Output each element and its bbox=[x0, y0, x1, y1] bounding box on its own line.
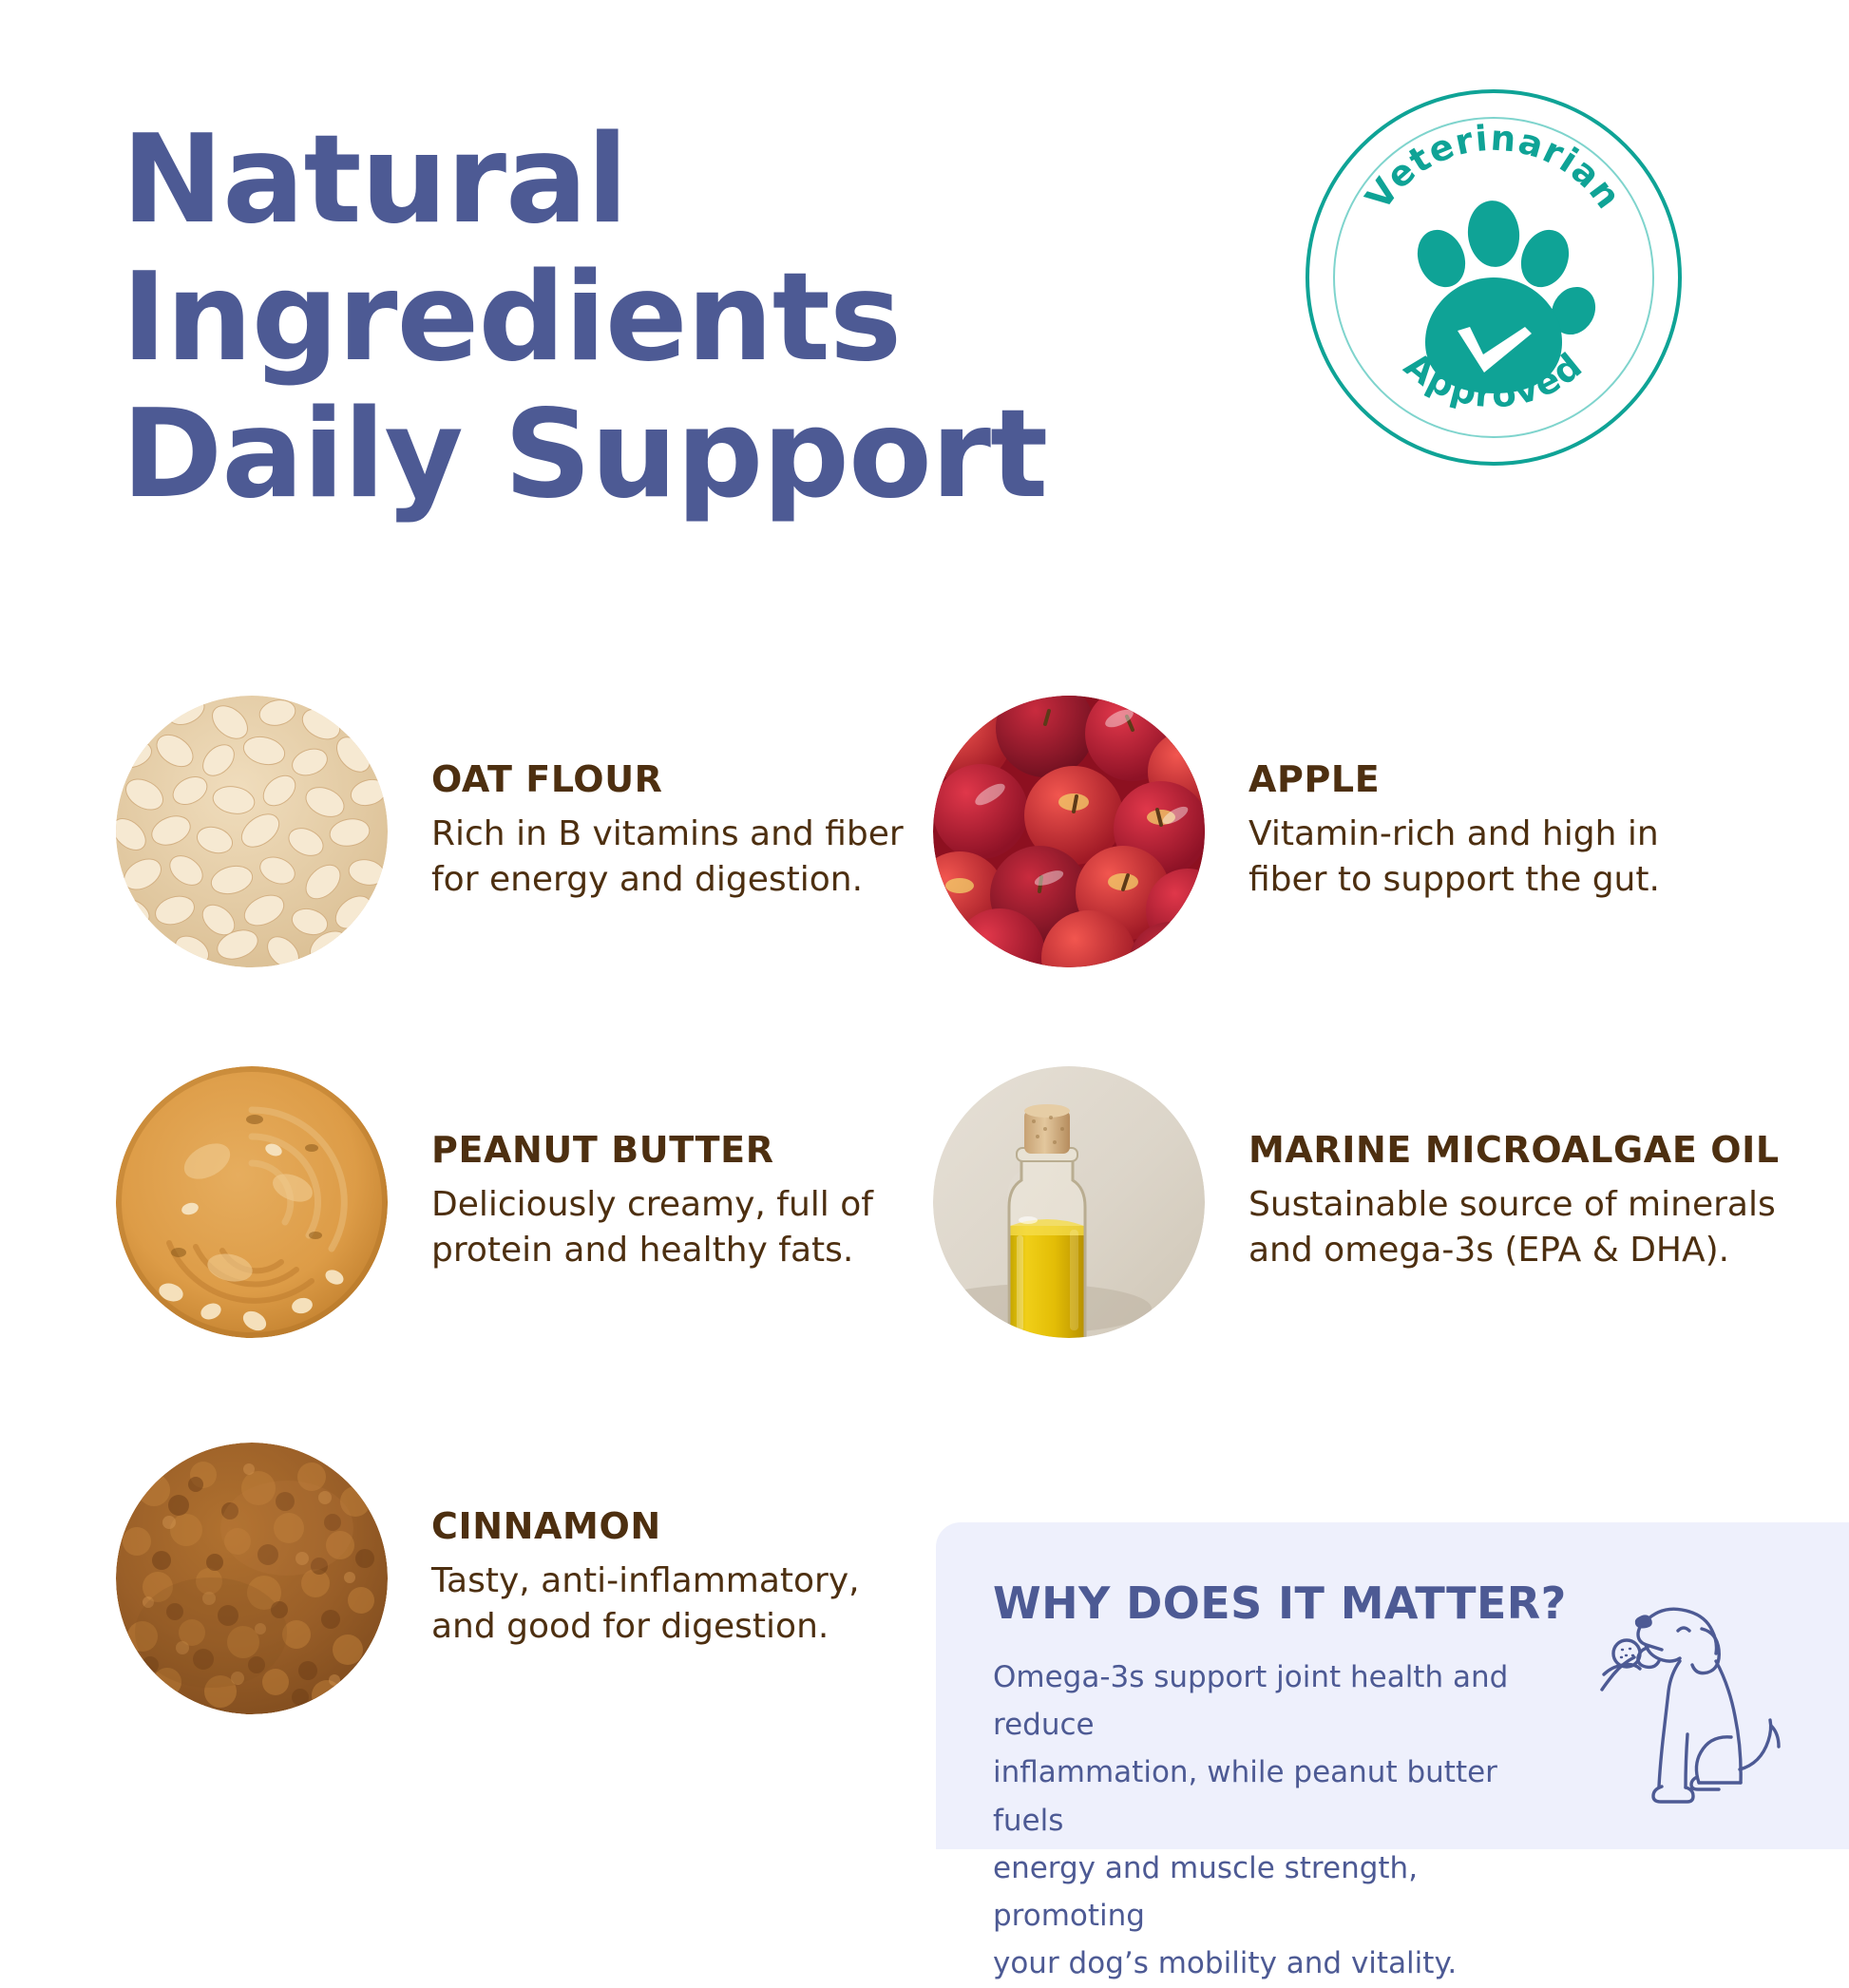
why-does-it-matter-panel: WHY DOES IT MATTER? Omega-3s support joi… bbox=[936, 1522, 1849, 1849]
ingredient-name: APPLE bbox=[1249, 760, 1660, 800]
ingredient-item-marine-microalgae-oil: MARINE MICROALGAE OIL Sustainable source… bbox=[933, 1066, 1780, 1338]
oil-bottle-photo bbox=[933, 1066, 1205, 1338]
page-title: Natural Ingredients Daily Support bbox=[122, 112, 1047, 525]
rolled-oats-photo bbox=[116, 696, 388, 967]
ingredient-name: PEANUT BUTTER bbox=[431, 1131, 873, 1171]
ingredient-description: Sustainable source of minerals and omega… bbox=[1249, 1182, 1780, 1273]
dog-with-treat-line-art-icon bbox=[1547, 1558, 1832, 1844]
ingredient-text: OAT FLOUR Rich in B vitamins and fiber f… bbox=[431, 760, 904, 903]
ingredient-text: PEANUT BUTTER Deliciously creamy, full o… bbox=[431, 1131, 873, 1273]
ingredient-item-cinnamon: CINNAMON Tasty, anti-inflammatory, and g… bbox=[116, 1443, 860, 1714]
ingredient-name: CINNAMON bbox=[431, 1507, 860, 1547]
ingredient-description: Deliciously creamy, full of protein and … bbox=[431, 1182, 873, 1273]
header: Natural Ingredients Daily Support Veteri… bbox=[0, 0, 1849, 589]
ingredient-item-oat-flour: OAT FLOUR Rich in B vitamins and fiber f… bbox=[116, 696, 904, 967]
ingredient-item-apple: APPLE Vitamin-rich and high in fiber to … bbox=[933, 696, 1660, 967]
why-panel-body: Omega-3s support joint health and reduce… bbox=[993, 1653, 1563, 1988]
peanut-butter-photo bbox=[116, 1066, 388, 1338]
ingredient-name: MARINE MICROALGAE OIL bbox=[1249, 1131, 1780, 1171]
cinnamon-powder-photo bbox=[116, 1443, 388, 1714]
ingredient-description: Tasty, anti-inflammatory, and good for d… bbox=[431, 1558, 860, 1650]
ingredient-text: APPLE Vitamin-rich and high in fiber to … bbox=[1249, 760, 1660, 903]
ingredient-text: MARINE MICROALGAE OIL Sustainable source… bbox=[1249, 1131, 1780, 1273]
red-apples-photo bbox=[933, 696, 1205, 967]
ingredient-name: OAT FLOUR bbox=[431, 760, 904, 800]
ingredient-description: Rich in B vitamins and fiber for energy … bbox=[431, 812, 904, 903]
ingredient-description: Vitamin-rich and high in fiber to suppor… bbox=[1249, 812, 1660, 903]
veterinarian-approved-badge: Veterinarian Approved bbox=[1294, 78, 1693, 477]
ingredient-text: CINNAMON Tasty, anti-inflammatory, and g… bbox=[431, 1507, 860, 1650]
ingredient-item-peanut-butter: PEANUT BUTTER Deliciously creamy, full o… bbox=[116, 1066, 873, 1338]
